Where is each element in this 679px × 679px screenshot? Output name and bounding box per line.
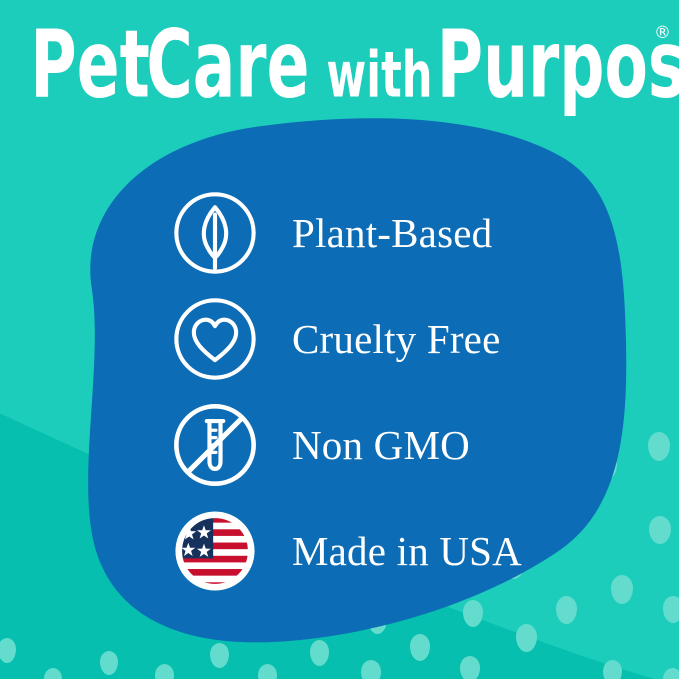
page-title: Pet Care with Purpose ® [0,14,679,124]
feature-item-cruelty-free: Cruelty Free [168,286,608,392]
feature-label-made-in-usa: Made in USA [292,531,522,572]
headline-word-pet-care: Pet [30,14,149,118]
feature-item-non-gmo: Non GMO [168,392,608,498]
pet-care-with-purpose-graphic: Pet Care with Purpose ® Plant-Based [0,0,679,679]
feature-list: Plant-Based Cruelty Free [168,180,608,604]
headline-text: Pet Care with Purpose ® [0,14,679,118]
headline-word-care: Care [146,14,309,118]
feature-label-non-gmo: Non GMO [292,425,470,466]
feature-label-cruelty-free: Cruelty Free [292,319,500,360]
feature-item-made-in-usa: Made in USA [168,498,608,604]
usa-flag-badge-icon [168,504,262,598]
feature-item-plant-based: Plant-Based [168,180,608,286]
registered-trademark-symbol: ® [654,23,671,43]
headline-word-purpose: Purpose [437,14,679,118]
no-gmo-test-tube-icon [168,398,262,492]
headline-word-with: with [326,37,432,112]
heart-in-circle-icon [168,292,262,386]
feature-label-plant-based: Plant-Based [292,213,492,254]
leaf-in-circle-icon [168,186,262,280]
